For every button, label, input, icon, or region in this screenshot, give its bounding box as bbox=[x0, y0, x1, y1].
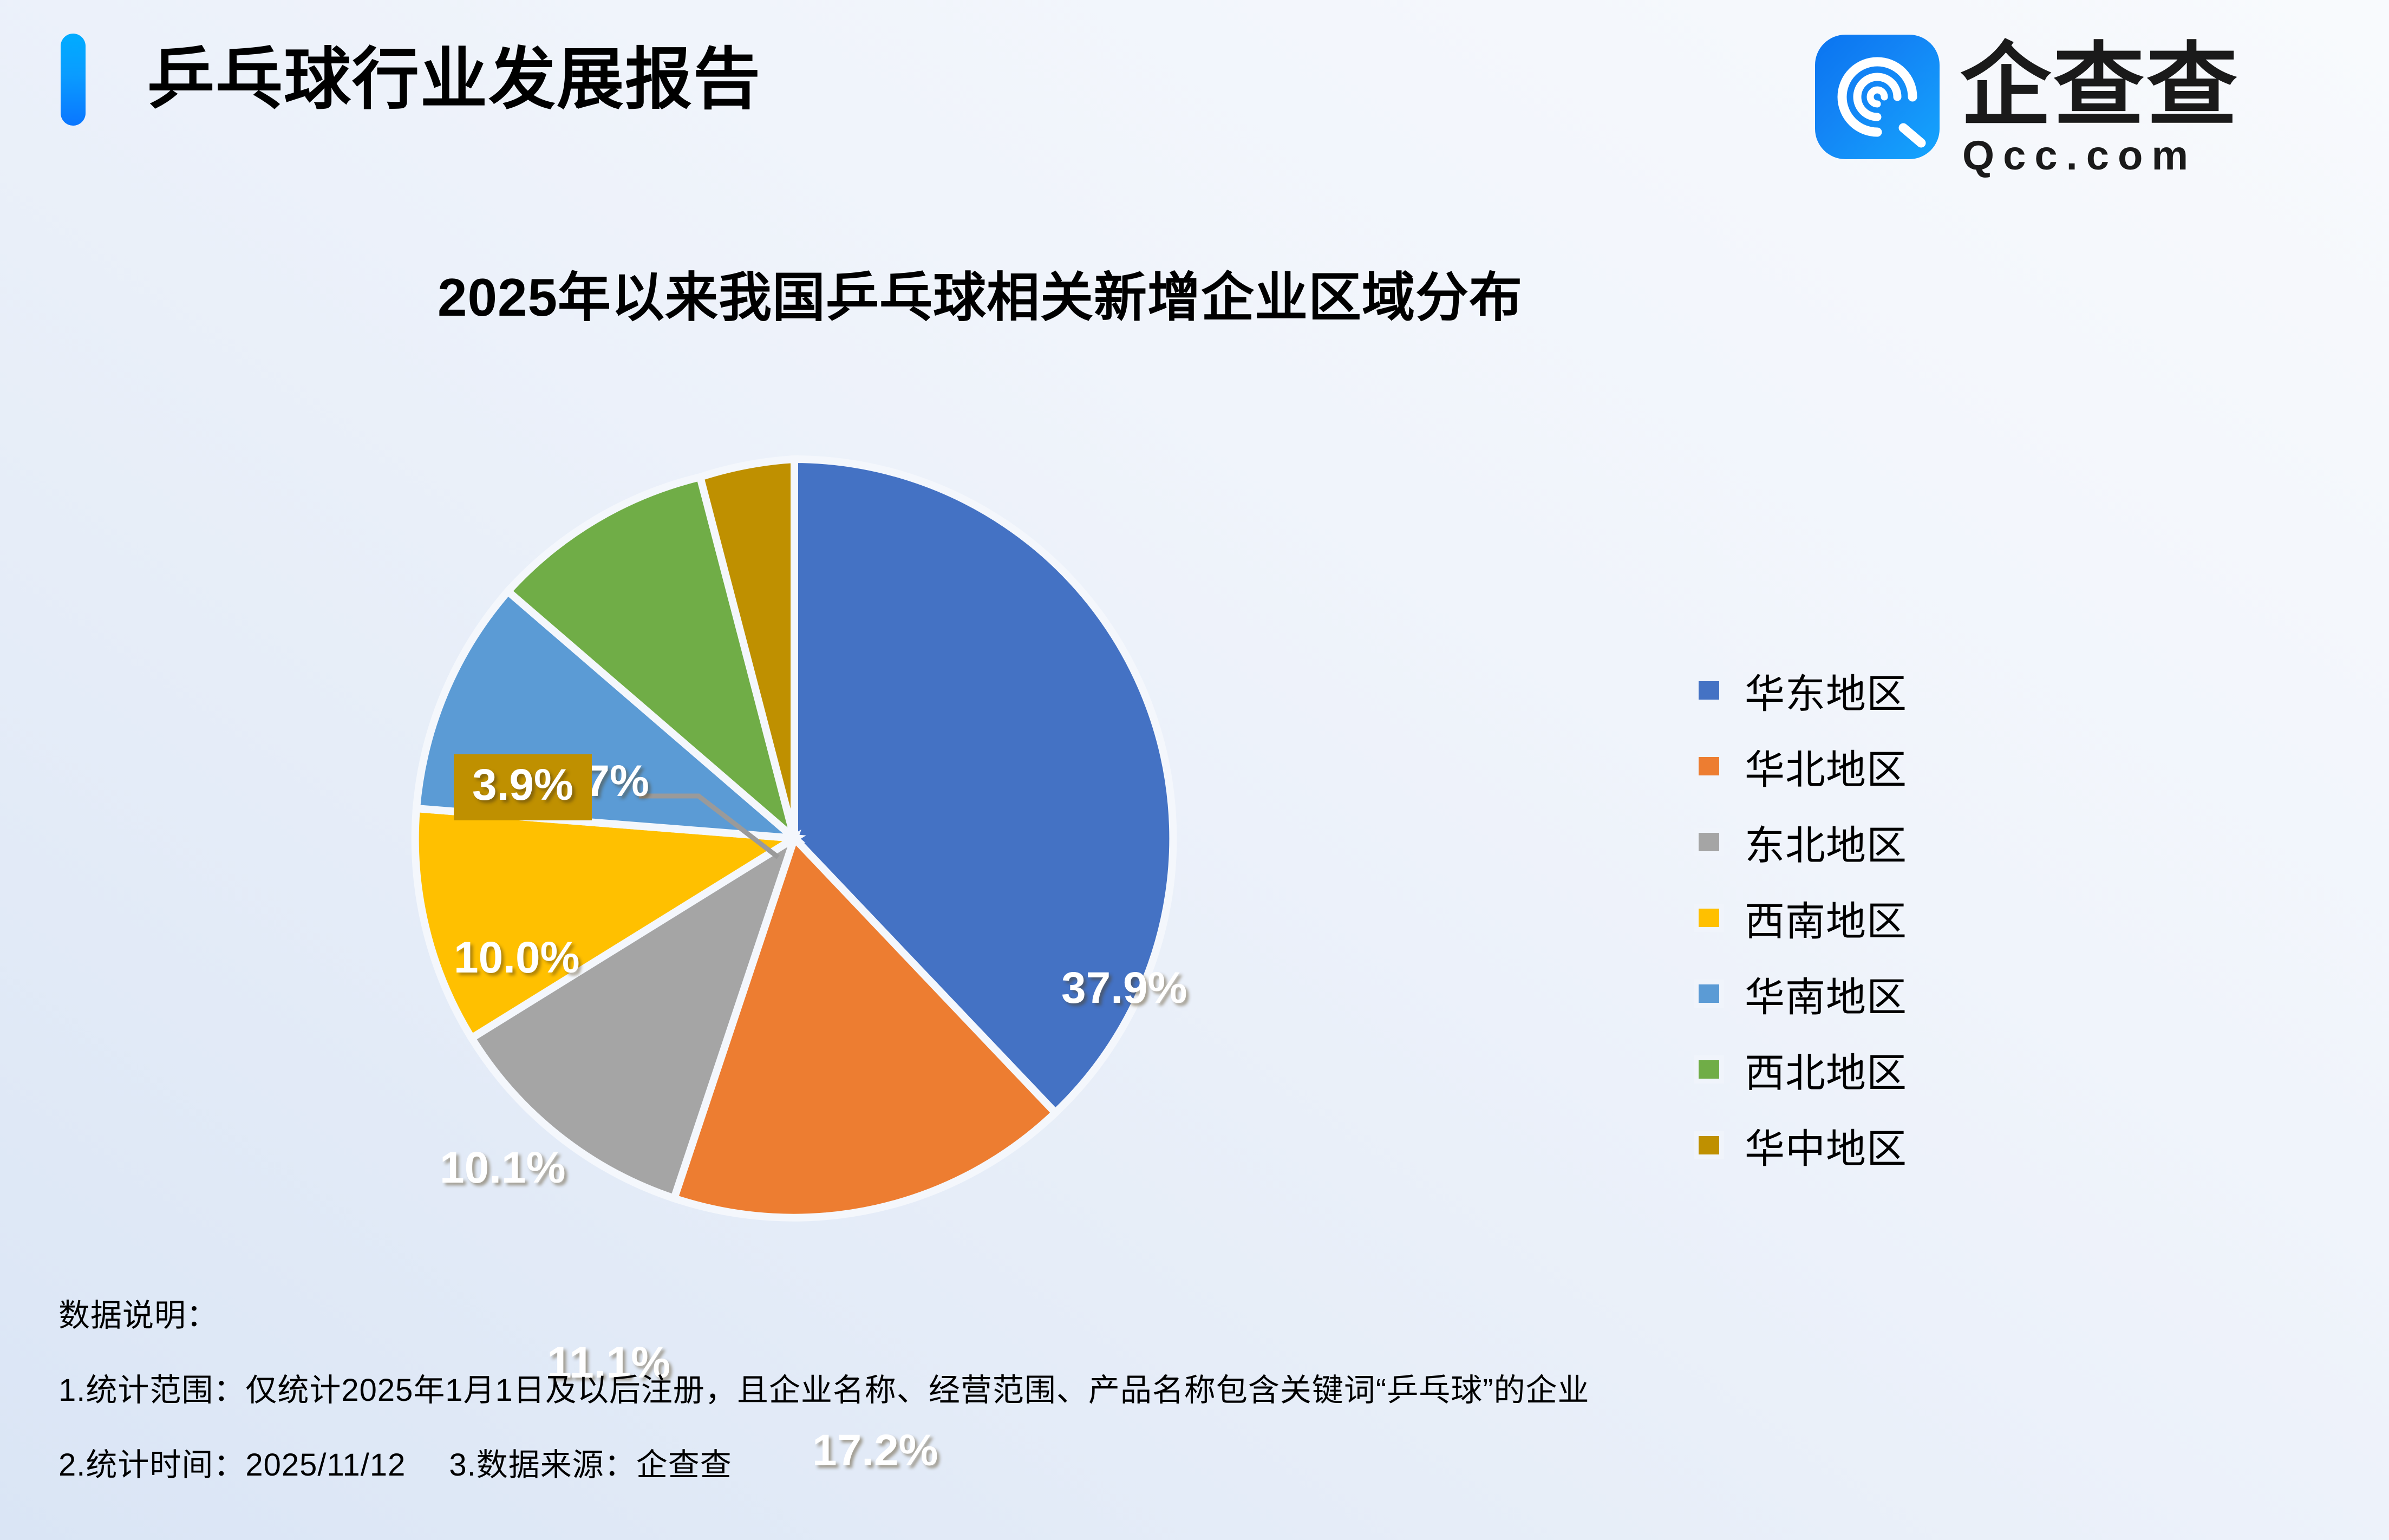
brand-name-cn: 企查查 bbox=[1960, 37, 2240, 134]
legend-item-xinan[interactable]: 西南地区 bbox=[1694, 880, 1907, 956]
legend-item-dongbei[interactable]: 东北地区 bbox=[1694, 804, 1907, 880]
brand-domain: Qcc.com bbox=[1962, 134, 2197, 178]
legend-item-xibei[interactable]: 西北地区 bbox=[1694, 1032, 1907, 1107]
footer-notes: 数据说明： 1.统计范围：仅统计2025年1月1日及以后注册，且企业名称、经营范… bbox=[58, 1290, 2333, 1485]
slice-label-xinan: 10.1% bbox=[440, 1143, 566, 1193]
page-header: 乒乓球行业发展报告 企查查 Qcc.com bbox=[0, 0, 2389, 195]
footnote-source: 3.数据来源：企查查 bbox=[449, 1439, 732, 1485]
slice-callout-huazhong: 3.9% bbox=[454, 754, 592, 820]
legend-label-huazhong: 华中地区 bbox=[1745, 1117, 1907, 1174]
legend-label-huadong: 华东地区 bbox=[1745, 662, 1907, 720]
page-title: 乒乓球行业发展报告 bbox=[147, 28, 761, 131]
legend-item-huadong[interactable]: 华东地区 bbox=[1694, 652, 1907, 728]
legend-label-xibei: 西北地区 bbox=[1745, 1041, 1907, 1099]
legend-item-huanan[interactable]: 华南地区 bbox=[1694, 956, 1907, 1032]
legend-swatch-dongbei bbox=[1694, 828, 1724, 856]
pie-chart: 37.9% 17.2% 11.1% 10.1% 10.0% 9.7% 3.9% bbox=[0, 374, 1657, 1240]
qcc-spiral-q-icon bbox=[1815, 35, 1940, 159]
footnote-scope: 1.统计范围：仅统计2025年1月1日及以后注册，且企业名称、经营范围、产品名称… bbox=[58, 1365, 2333, 1410]
legend-swatch-xibei bbox=[1694, 1055, 1724, 1084]
title-accent-bar bbox=[61, 34, 86, 126]
legend-swatch-huabei bbox=[1694, 752, 1724, 780]
legend-swatch-huadong bbox=[1694, 676, 1724, 704]
brand-logo: 企查查 Qcc.com bbox=[1815, 22, 2335, 179]
footnote-spacer bbox=[406, 1439, 449, 1485]
legend-swatch-xinan bbox=[1694, 904, 1724, 932]
legend-item-huazhong[interactable]: 华中地区 bbox=[1694, 1107, 1907, 1183]
legend-swatch-huazhong bbox=[1694, 1131, 1724, 1159]
legend-label-xinan: 西南地区 bbox=[1745, 889, 1907, 947]
slice-label-huanan: 10.0% bbox=[454, 932, 580, 983]
slice-label-huazhong: 3.9% bbox=[472, 760, 573, 810]
legend-swatch-huanan bbox=[1694, 980, 1724, 1008]
footnote-time: 2.统计时间：2025/11/12 bbox=[58, 1439, 406, 1485]
chart-legend: 华东地区 华北地区 东北地区 西南地区 华南地区 西北地区 华中地区 bbox=[1694, 652, 1907, 1183]
legend-label-huabei: 华北地区 bbox=[1745, 738, 1907, 795]
legend-item-huabei[interactable]: 华北地区 bbox=[1694, 728, 1907, 804]
footnote-time-source: 2.统计时间：2025/11/12 3.数据来源：企查查 bbox=[58, 1439, 2333, 1485]
footnote-heading: 数据说明： bbox=[58, 1290, 2333, 1335]
legend-label-dongbei: 东北地区 bbox=[1745, 813, 1907, 871]
slice-label-huadong: 37.9% bbox=[1061, 963, 1187, 1014]
chart-title: 2025年以来我国乒乓球相关新增企业区域分布 bbox=[0, 255, 1960, 331]
legend-label-huanan: 华南地区 bbox=[1745, 965, 1907, 1023]
